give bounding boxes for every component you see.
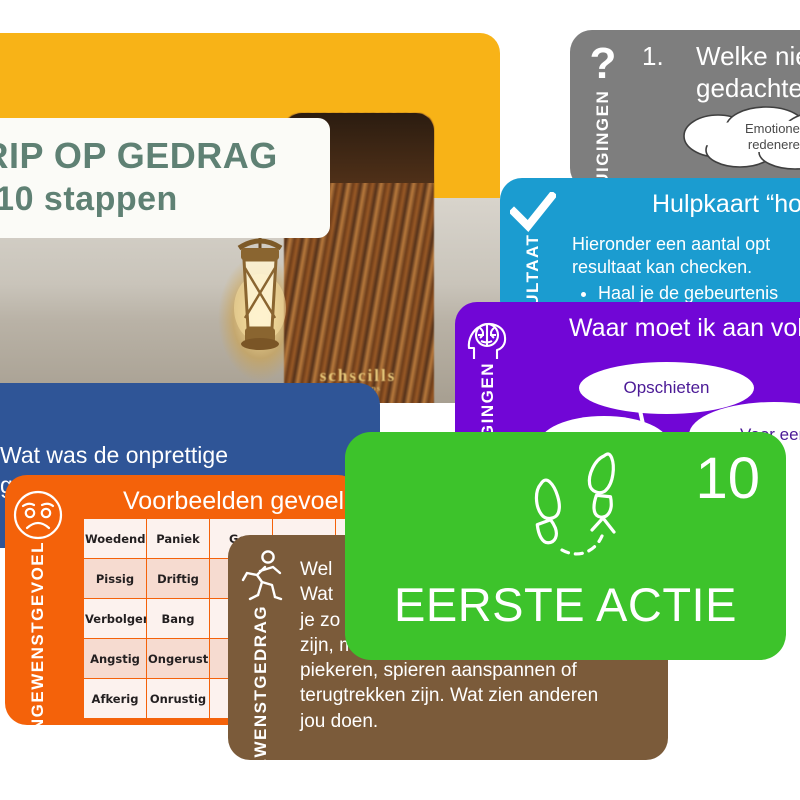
card-brown-spine: ONGEWENST GEDRAG 3 (228, 535, 294, 760)
card-cover[interactable]: schscills workshops GRIP OP GEDRAG in 10… (0, 33, 500, 403)
thought-bubble-line-2: redeneren (748, 137, 800, 153)
sad-face-icon (12, 489, 64, 541)
card-purple-title: Waar moet ik aan volde (527, 314, 800, 343)
table-cell: Driftig (147, 559, 210, 599)
thought-bubble: Emotioneel redeneren (670, 106, 800, 168)
thought-bubble-line-1: Emotioneel (745, 121, 800, 137)
table-cell: Pissig (84, 559, 147, 599)
card-blue-text-line-1: Wat was de onprettige (0, 441, 370, 471)
cover-title-line-1: GRIP OP GEDRAG (0, 137, 330, 175)
lantern-icon (215, 218, 305, 368)
card-grey-spine-text: VRAGEN OVERTUIGINGEN (592, 90, 614, 190)
card-brown-spine-text: ONGEWENST GEDRAG (250, 605, 272, 760)
cover-title-box: GRIP OP GEDRAG in 10 stappen (0, 118, 330, 238)
table-cell: Bang (147, 599, 210, 639)
card-grey-spine: ? VRAGEN OVERTUIGINGEN (570, 30, 636, 190)
brain-head-icon (464, 316, 512, 362)
card-orange-spine-text: ONGEWENST GEVOEL (27, 541, 49, 725)
belief-bubble-opschieten-label: Opschieten (624, 378, 710, 397)
card-vragen-overtuigingen[interactable]: ? VRAGEN OVERTUIGINGEN 1.Welke nie gedac… (570, 30, 800, 190)
table-cell: Paniek (147, 519, 210, 559)
table-cell: Onrustig (147, 679, 210, 719)
table-cell: Verbolgen (84, 599, 147, 639)
table-cell: Woedend (84, 519, 147, 559)
card-grey-title-line-1: Welke nie (696, 41, 800, 71)
card-grey-question-number: 1. (642, 42, 696, 72)
card-grey-title-line-2: gedachten (696, 73, 800, 103)
card-cyan-paragraph: Hieronder een aantal opt resultaat kan c… (572, 233, 800, 280)
running-person-icon (235, 549, 287, 605)
cover-title-line-2: in 10 stappen (0, 181, 330, 218)
card-stack-canvas: schscills workshops GRIP OP GEDRAG in 10… (0, 0, 800, 800)
card-brown-spine-line-2: GEDRAG (250, 605, 272, 689)
thought-bubble-text: Emotioneel redeneren (670, 106, 800, 168)
card-green-title: EERSTE ACTIE (345, 577, 786, 632)
card-brown-line-6: terugtrekken zijn. Wat zien anderen (300, 683, 654, 708)
card-eerste-actie[interactable]: 10 EERSTE ACTIE (345, 432, 786, 660)
card-cyan-paragraph-line-2: resultaat kan checken. (572, 256, 800, 279)
svg-text:?: ? (590, 44, 617, 88)
card-orange-spine-line-2: GEVOEL (27, 541, 49, 621)
card-orange-spine-line-1: ONGEWENST (27, 621, 49, 725)
question-mark-icon: ? (586, 44, 620, 90)
card-brown-line-7: jou doen. (300, 709, 654, 734)
table-cell: Afkerig (84, 679, 147, 719)
card-cyan-paragraph-line-1: Hieronder een aantal opt (572, 233, 800, 256)
footsteps-icon (510, 450, 650, 580)
card-green-step-number: 10 (695, 450, 760, 508)
card-cyan-title: Hulpkaart “hoe (572, 190, 800, 219)
table-cell: Ongerust (147, 639, 210, 679)
card-orange-title: Voorbeelden gevoel (77, 487, 346, 516)
card-brown-spine-line-1: ONGEWENST (250, 689, 272, 760)
card-grey-heading: 1.Welke nie (642, 42, 800, 72)
card-brown-line-5: piekeren, spieren aanspannen of (300, 658, 654, 683)
card-grey-title-line-2-wrap: gedachten (642, 74, 800, 104)
card-grey-spine-line-2: OVERTUIGINGEN (592, 90, 614, 190)
card-orange-spine: ONGEWENST GEVOEL 2 (5, 475, 71, 725)
checkmark-icon (510, 192, 556, 234)
table-cell: Angstig (84, 639, 147, 679)
